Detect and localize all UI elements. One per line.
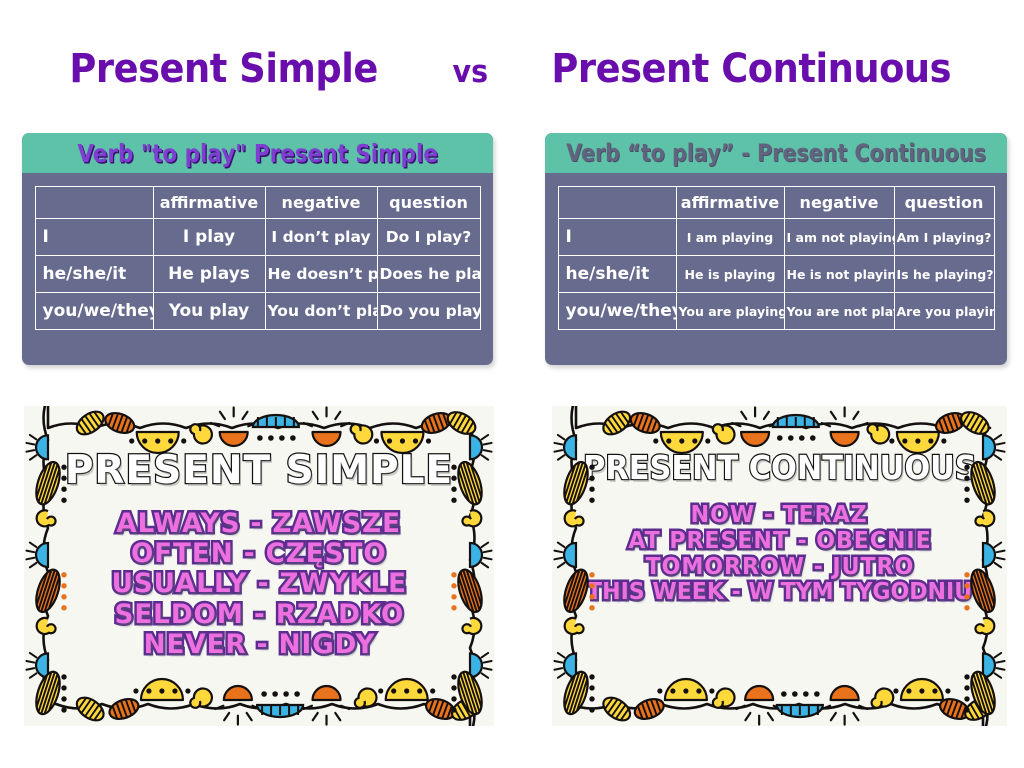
table-row: he/she/it He plays He doesn’t play Does … xyxy=(35,256,480,293)
table-header-band: Verb “to play” - Present Continuous xyxy=(545,133,1007,173)
column-header-question: question xyxy=(377,187,480,219)
cell-question: Am I playing? xyxy=(894,219,994,256)
table-header-title: Verb "to play" Present Simple xyxy=(77,139,438,168)
table-row: I I am playing I am not playing Am I pla… xyxy=(558,219,994,256)
poster-present-simple: PRESENT SIMPLE ALWAYS - ZAWSZE OFTEN - C… xyxy=(24,406,494,726)
cell-negative: You are not playing xyxy=(784,293,894,330)
cell-negative: You don’t play xyxy=(265,293,377,330)
column-header-negative: negative xyxy=(265,187,377,219)
column-header-affirmative: affirmative xyxy=(676,187,784,219)
cell-affirmative: He plays xyxy=(153,256,265,293)
poster-title: PRESENT SIMPLE xyxy=(65,448,453,493)
table-header-row: affirmative negative question xyxy=(35,187,480,219)
conjugation-grid: affirmative negative question I I play I… xyxy=(35,186,481,330)
row-subject: he/she/it xyxy=(35,256,153,293)
cell-affirmative: I play xyxy=(153,219,265,256)
table-header-band: Verb "to play" Present Simple xyxy=(22,133,493,173)
cell-negative: I don’t play xyxy=(265,219,377,256)
poster-content: PRESENT CONTINUOUS NOW - TERAZ AT PRESEN… xyxy=(578,428,981,704)
cell-question: Do you play? xyxy=(377,293,480,330)
column-header-affirmative: affirmative xyxy=(153,187,265,219)
table-row: I I play I don’t play Do I play? xyxy=(35,219,480,256)
cell-question: Does he play? xyxy=(377,256,480,293)
word-line: SELDOM - RZADKO xyxy=(114,600,404,630)
cell-affirmative: I am playing xyxy=(676,219,784,256)
column-header-blank xyxy=(558,187,676,219)
cell-question: Is he playing? xyxy=(894,256,994,293)
cell-negative: I am not playing xyxy=(784,219,894,256)
table-header-title: Verb “to play” - Present Continuous xyxy=(566,139,986,167)
row-subject: I xyxy=(35,219,153,256)
word-line: AT PRESENT - OBECNIE xyxy=(628,529,931,555)
table-header-row: affirmative negative question xyxy=(558,187,994,219)
row-subject: you/we/they xyxy=(558,293,676,330)
poster-content: PRESENT SIMPLE ALWAYS - ZAWSZE OFTEN - C… xyxy=(50,428,468,704)
table-present-continuous: Verb “to play” - Present Continuous affi… xyxy=(545,133,1007,365)
word-line: THIS WEEK - W TYM TYGODNIU xyxy=(587,580,972,606)
row-subject: he/she/it xyxy=(558,256,676,293)
title-present-continuous: Present Continuous xyxy=(551,46,951,92)
table-present-simple: Verb "to play" Present Simple affirmativ… xyxy=(22,133,493,365)
poster-word-list: ALWAYS - ZAWSZE OFTEN - CZĘSTO USUALLY -… xyxy=(50,509,468,660)
cell-affirmative: He is playing xyxy=(676,256,784,293)
word-line: NOW - TERAZ xyxy=(691,503,868,529)
word-line: NEVER - NIGDY xyxy=(143,630,375,660)
cell-negative: He is not playing xyxy=(784,256,894,293)
column-header-blank xyxy=(35,187,153,219)
cell-question: Are you playing? xyxy=(894,293,994,330)
row-subject: I xyxy=(558,219,676,256)
column-header-negative: negative xyxy=(784,187,894,219)
cell-affirmative: You are playing xyxy=(676,293,784,330)
row-subject: you/we/they xyxy=(35,293,153,330)
word-line: USUALLY - ZWYKLE xyxy=(111,569,406,599)
poster-title: PRESENT CONTINUOUS xyxy=(583,448,977,487)
cell-affirmative: You play xyxy=(153,293,265,330)
word-line: ALWAYS - ZAWSZE xyxy=(117,509,402,539)
poster-word-list: NOW - TERAZ AT PRESENT - OBECNIE TOMORRO… xyxy=(578,503,981,606)
poster-present-continuous: PRESENT CONTINUOUS NOW - TERAZ AT PRESEN… xyxy=(552,406,1007,726)
title-present-simple: Present Simple xyxy=(69,46,377,92)
table-row: he/she/it He is playing He is not playin… xyxy=(558,256,994,293)
word-line: TOMORROW - JUTRO xyxy=(645,555,914,581)
column-header-question: question xyxy=(894,187,994,219)
page-title: Present Simple vs Present Continuous xyxy=(0,46,1024,92)
table-row: you/we/they You are playing You are not … xyxy=(558,293,994,330)
slide-canvas: Present Simple vs Present Continuous Ver… xyxy=(0,0,1024,768)
word-line: OFTEN - CZĘSTO xyxy=(131,539,387,569)
conjugation-grid: affirmative negative question I I am pla… xyxy=(558,186,995,330)
title-vs: vs xyxy=(453,54,489,90)
cell-question: Do I play? xyxy=(377,219,480,256)
table-row: you/we/they You play You don’t play Do y… xyxy=(35,293,480,330)
cell-negative: He doesn’t play xyxy=(265,256,377,293)
